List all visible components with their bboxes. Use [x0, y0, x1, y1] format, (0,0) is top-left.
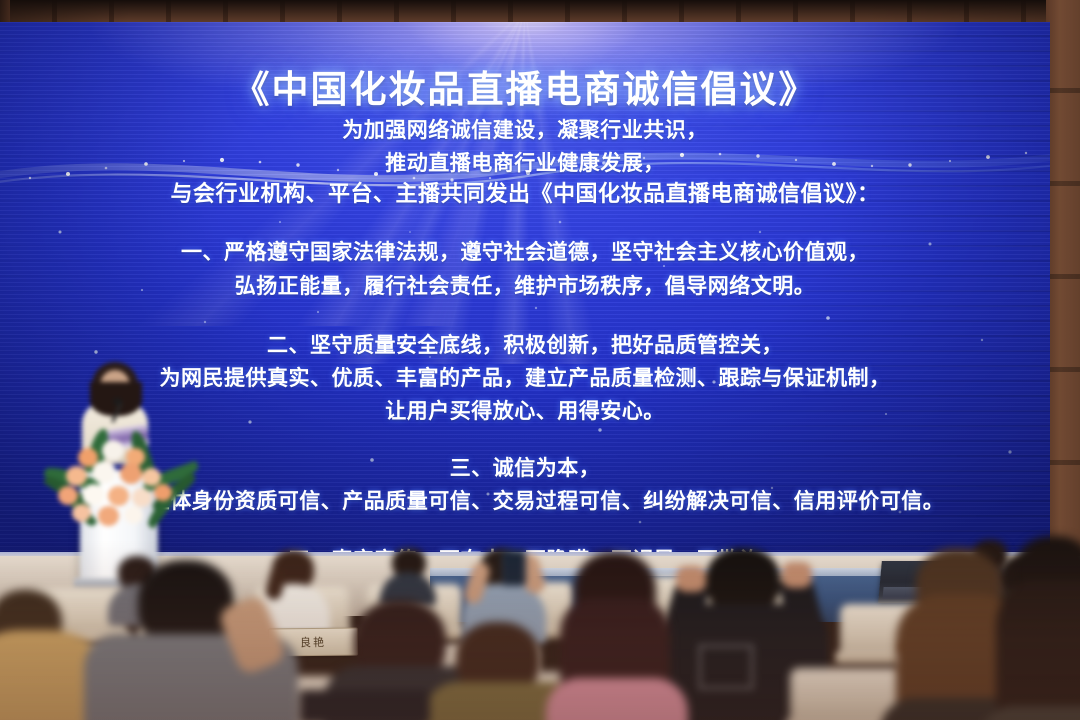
subtitle-line-1: 为加强网络诚信建设，凝聚行业共识， — [0, 115, 1050, 145]
subtitle-line-2: 推动直播电商行业健康发展， — [0, 148, 1050, 178]
flower-bloom — [58, 486, 78, 505]
audience-torso — [546, 678, 688, 720]
flower-bloom — [72, 504, 91, 522]
item-1-line-1: 一、严格遵守国家法律法规，遵守社会道德，坚守社会主义核心价值观， — [0, 236, 1050, 268]
laptop-device — [300, 690, 430, 720]
flower-bloom — [82, 484, 105, 506]
jacket-back-logo — [698, 644, 754, 690]
floral-arrangement — [42, 428, 202, 540]
item-1-line-2: 弘扬正能量，履行社会责任，维护市场秩序，倡导网络文明。 — [0, 270, 1050, 302]
initiative-title: 《中国化妆品直播电商诚信倡议》 — [0, 68, 1050, 112]
subtitle-line-3: 与会行业机构、平台、主播共同发出《中国化妆品直播电商诚信倡议》： — [0, 180, 1050, 210]
conference-hall-screenshot: 《中国化妆品直播电商诚信倡议》 为加强网络诚信建设，凝聚行业共识， 推动直播电商… — [0, 0, 1080, 720]
flower-bloom — [108, 486, 129, 506]
hand — [676, 566, 706, 592]
flower-bloom — [66, 466, 87, 486]
flower-bloom — [98, 506, 119, 526]
audience-hair — [996, 580, 1080, 720]
flower-bloom — [92, 461, 116, 484]
right-wall-wood-panel — [1046, 0, 1080, 600]
microphone-head — [113, 398, 122, 405]
flower-bloom — [154, 484, 172, 501]
flower-bloom — [132, 488, 152, 507]
phone-device — [502, 550, 526, 586]
flower-bloom — [102, 440, 124, 461]
hand — [782, 562, 812, 588]
flower-bloom — [142, 468, 161, 486]
flower-bloom — [120, 463, 142, 484]
flower-bloom — [124, 506, 143, 524]
item-2-line-1: 二、坚守质量安全底线，积极创新，把好品质管控关， — [0, 329, 1050, 361]
